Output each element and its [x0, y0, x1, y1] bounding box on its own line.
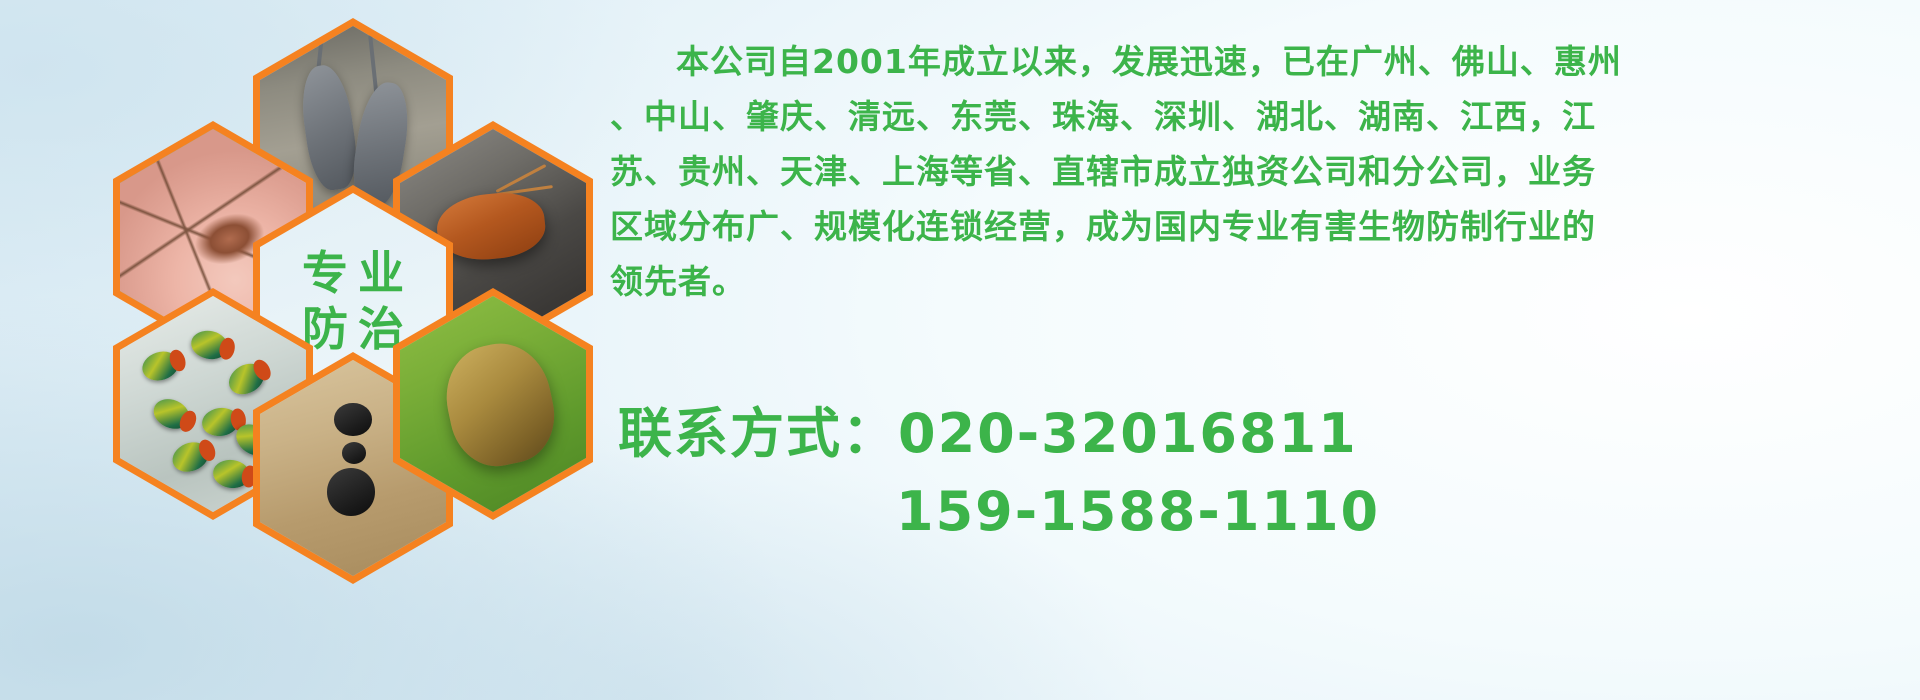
- intro-line-3: 苏、贵州、天津、上海等省、直辖市成立独资公司和分公司，业务: [610, 144, 1900, 199]
- intro-line-1: 本公司自2001年成立以来，发展迅速，已在广州、佛山、惠州: [610, 34, 1900, 89]
- hexagon-cluster: 专业 防治: [0, 0, 620, 700]
- banner-root: 专业 防治: [0, 0, 1920, 700]
- intro-paragraph: 本公司自2001年成立以来，发展迅速，已在广州、佛山、惠州 、中山、肇庆、清远、…: [610, 34, 1900, 309]
- intro-line-2: 、中山、肇庆、清远、东莞、珠海、深圳、湖北、湖南、江西，江: [610, 89, 1900, 144]
- intro-line-5: 领先者。: [610, 254, 1900, 309]
- slogan-line-1: 专业: [292, 245, 414, 301]
- stinkbug-photo: [400, 296, 586, 512]
- contact-phone-mobile[interactable]: 159-1588-1110: [618, 473, 1908, 551]
- intro-line-4: 区域分布广、规模化连锁经营，成为国内专业有害生物防制行业的: [610, 199, 1900, 254]
- contact-phone-landline[interactable]: 联系方式：020-32016811: [618, 395, 1908, 473]
- contact-block: 联系方式：020-32016811 159-1588-1110: [618, 395, 1908, 551]
